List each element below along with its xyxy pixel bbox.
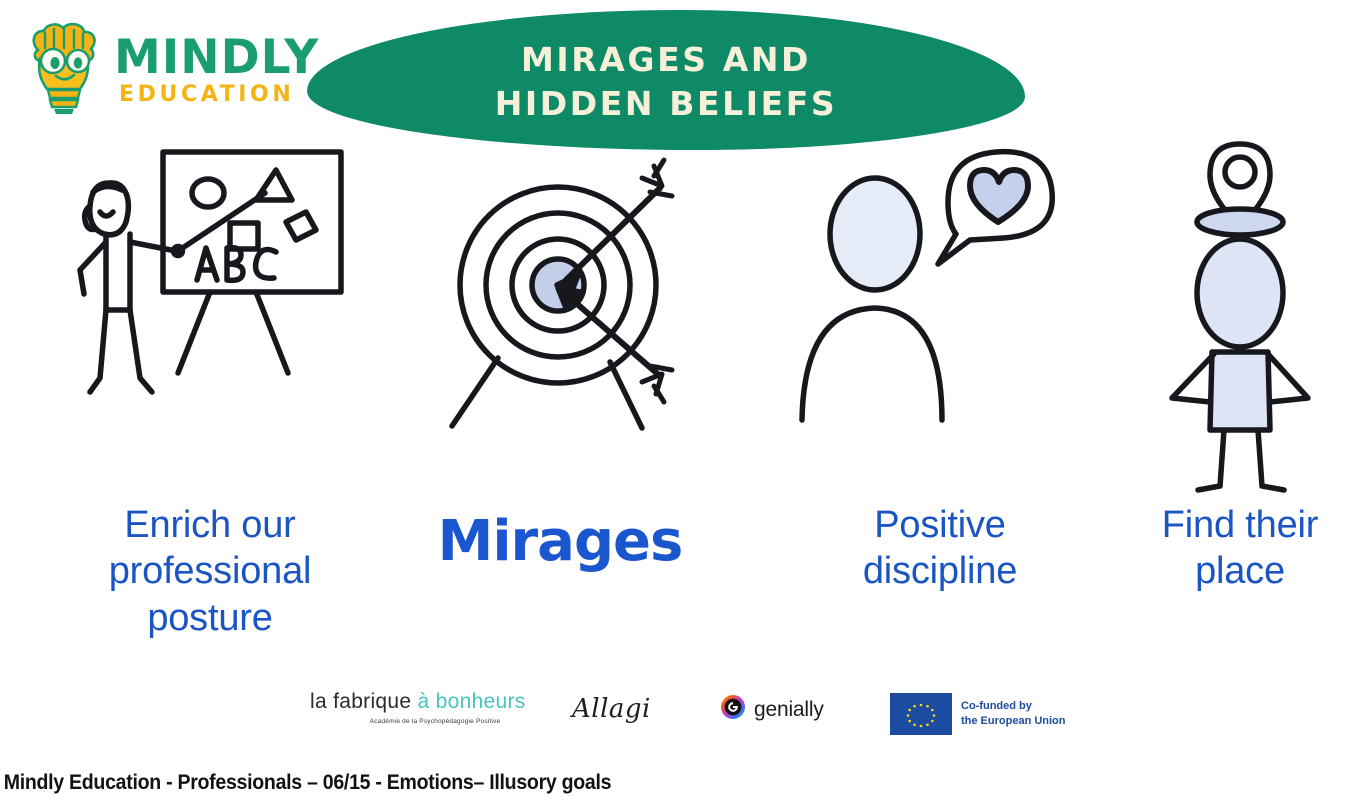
eu-funding-line-1: Co-funded by (961, 700, 1032, 712)
genially-wordmark: genially (754, 698, 824, 722)
genially-ring-icon (720, 694, 746, 725)
eu-funding-line-2: the European Union (961, 715, 1066, 727)
caption-line: Mirages (410, 508, 710, 576)
column-positive-discipline: Positive discipline (790, 130, 1090, 670)
eu-flag-icon (890, 693, 952, 735)
eu-funding-text: Co-funded by the European Union (961, 699, 1066, 728)
logo-allagi: Allagi (572, 694, 651, 724)
column-find-their-place: Find their place (1090, 130, 1354, 670)
column-enrich-professional-posture: Enrich our professional posture (60, 130, 360, 670)
brand-wordmark: MINDLY (114, 34, 319, 81)
caption-find-their-place: Find their place (1090, 502, 1354, 595)
slide-canvas: MINDLY EDUCATION MIRAGES AND HIDDEN BELI… (0, 0, 1354, 760)
caption-line: Find their (1090, 502, 1354, 548)
caption-positive-discipline: Positive discipline (790, 502, 1090, 595)
caption-line: Positive (790, 502, 1090, 548)
fabrique-wordmark: la fabrique à bonheurs (310, 690, 560, 714)
lightbulb-character-icon (18, 20, 110, 116)
fabrique-subtitle: Académie de la Psychopédagogie Positive (310, 718, 560, 725)
caption-mirages: Mirages (410, 508, 710, 576)
title-line-2: HIDDEN BELIEFS (495, 84, 838, 124)
bottom-caption-bar: Mindly Education - Professionals – 06/15… (0, 760, 1354, 805)
logo-co-funded-eu: Co-funded by the European Union (890, 693, 1066, 735)
caption-line: professional (60, 548, 360, 594)
caption-line: Enrich our (60, 502, 360, 548)
bottom-caption-text: Mindly Education - Professionals – 06/15… (0, 771, 611, 795)
teacher-whiteboard-icon (60, 130, 360, 500)
caption-enrich-professional-posture: Enrich our professional posture (60, 502, 360, 641)
brand-tagline: EDUCATION (119, 84, 294, 106)
column-mirages: Mirages (410, 130, 710, 670)
person-location-pin-icon (1090, 130, 1354, 500)
logo-genially: genially (720, 694, 824, 725)
target-with-arrows-icon (410, 130, 710, 500)
brand-logo: MINDLY EDUCATION (18, 18, 280, 118)
fabrique-wordmark-accent: à bonheurs (418, 690, 526, 713)
title-line-1: MIRAGES AND (521, 40, 811, 80)
person-heart-speech-bubble-icon (790, 130, 1090, 500)
title-banner: MIRAGES AND HIDDEN BELIEFS (307, 10, 1025, 150)
title-banner-text: MIRAGES AND HIDDEN BELIEFS (307, 10, 1025, 150)
logo-la-fabrique-a-bonheurs: la fabrique à bonheurs Académie de la Ps… (310, 690, 560, 725)
footer-logo-row: la fabrique à bonheurs Académie de la Ps… (300, 690, 1060, 752)
fabrique-wordmark-plain: la fabrique (310, 690, 418, 713)
caption-line: discipline (790, 548, 1090, 594)
caption-line: posture (60, 595, 360, 641)
caption-line: place (1090, 548, 1354, 594)
